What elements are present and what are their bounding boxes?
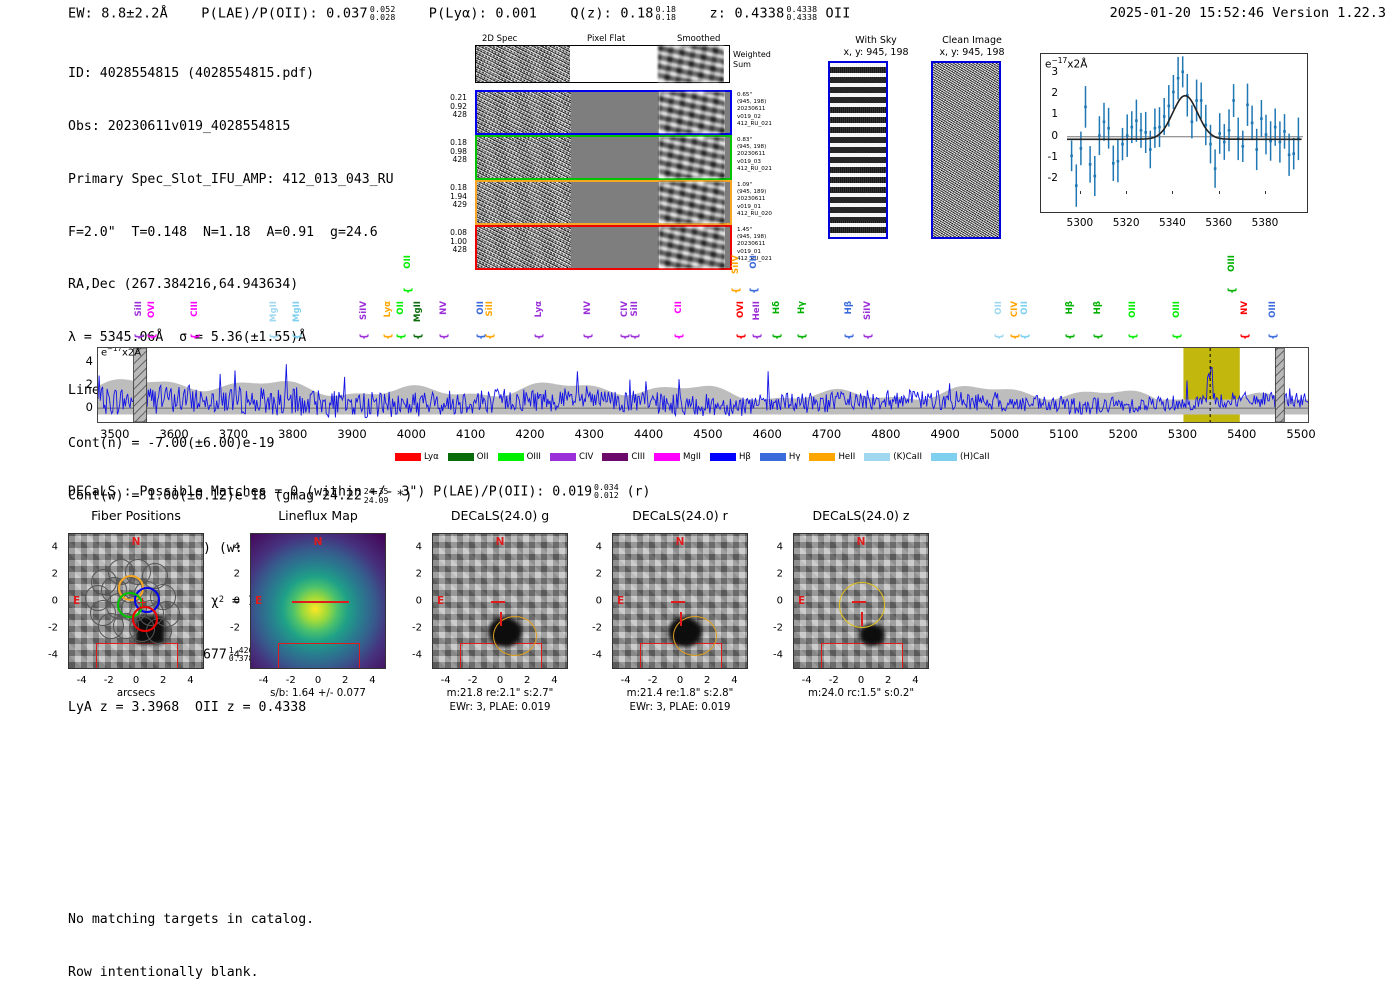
line-fit-plot: e−17x2Å 53005320534053605380-2-10123: [1040, 53, 1308, 213]
cutout-xtick: 0: [677, 675, 683, 686]
header-z: z: 0.4338: [709, 5, 784, 21]
spectrum-line-label: NV: [583, 301, 593, 315]
spectrum-line-label: OVI: [736, 301, 746, 318]
cutout-xtick: 4: [731, 675, 737, 686]
spectrum-xtick: 3800: [278, 427, 307, 441]
center-crosshair-h: [852, 601, 866, 602]
fov-box: [821, 643, 903, 669]
spectrum-line-label: SiII: [134, 301, 144, 317]
center-crosshair-h: [671, 601, 685, 602]
fiber-spacer: [725, 182, 730, 223]
weighted-smoothed-image: [658, 46, 724, 82]
legend-item: Lyα: [395, 452, 439, 462]
spectrum-line-bracket: {: [1268, 333, 1279, 340]
legend-label: HeII: [838, 452, 855, 462]
cutout-ytick: -2: [412, 623, 422, 634]
spectrum-line-bracket: {: [403, 287, 414, 294]
compass-east-label: E: [798, 595, 805, 607]
cutout-title: Fiber Positions: [91, 508, 181, 523]
spectrum-line-bracket: {: [439, 333, 450, 340]
spectrum-line-bracket: {: [1065, 333, 1076, 340]
cutout-ytick: 0: [416, 596, 422, 607]
center-crosshair-v: [500, 612, 501, 626]
fiber-pixelflat-image: [571, 227, 659, 268]
weighted-sum-label: Weighted Sum: [733, 50, 771, 70]
spectrum-line-label: MgII: [292, 301, 302, 322]
cutout-ytick: 2: [234, 568, 240, 579]
fiber-left-stats: 0.180.98428: [431, 139, 467, 165]
spectrum-line-bracket: {: [1020, 333, 1031, 340]
cutout-xtick: 4: [369, 675, 375, 686]
spectrum-line-bracket: {: [359, 333, 370, 340]
header-ew: EW: 8.8±2.2Å: [68, 5, 168, 21]
cutout-ytick: 0: [234, 596, 240, 607]
line-fit-ytick: -2: [1048, 172, 1058, 184]
spectrum-line-label: Hβ: [1093, 301, 1103, 314]
spectrum-line-label: Hβ: [1065, 301, 1075, 314]
info-radec: RA,Dec (267.384216,64.943634): [68, 276, 412, 294]
spectrum-xtick: 4200: [515, 427, 544, 441]
spectrum-line-bracket: {: [269, 333, 280, 340]
cutout-panel-decals-r: DECaLS(24.0) r N E -4-4-2-2002244m:21.4 …: [612, 508, 748, 708]
cutout-xtick: 2: [524, 675, 530, 686]
cutout-ytick: -4: [412, 650, 422, 661]
cutout-xtick: -2: [468, 675, 478, 686]
line-fit-xtick-mark: [1172, 191, 1173, 194]
spectrum-line-label: Hβ: [844, 301, 854, 314]
decals-header-errors: 0.0340.012: [594, 483, 619, 500]
spectrum-line-label: SiII: [485, 301, 495, 317]
spectrum-line-bracket: {: [1128, 333, 1139, 340]
cutout-ytick: -4: [773, 650, 783, 661]
center-crosshair-v: [680, 612, 681, 626]
spectrum-line-bracket: {: [190, 333, 201, 340]
header-z-suffix: OII: [826, 5, 851, 21]
decals-header: DECaLS : Possible Matches = 0 (within +/…: [68, 483, 650, 500]
cutout-ytick: 2: [777, 568, 783, 579]
spectrum-line-label: SiII: [630, 301, 640, 317]
info-id: ID: 4028554815 (4028554815.pdf): [68, 65, 412, 83]
spectrum-xtick: 4900: [931, 427, 960, 441]
legend-swatch: [809, 453, 835, 461]
cutout-ytick: 4: [234, 541, 240, 552]
cutout-caption-1: m:24.0 rc:1.5" s:0.2": [808, 688, 914, 699]
fiber-pixelflat-image: [571, 92, 659, 133]
legend-item: Hβ: [710, 452, 751, 462]
timestamp-version: 2025-01-20 15:52:46 Version 1.22.3: [1110, 5, 1386, 21]
legend-label: MgII: [683, 452, 701, 462]
spectrum-xtick: 4400: [634, 427, 663, 441]
with-sky-title: With Sky x, y: 945, 198: [828, 35, 924, 59]
spec2d-col-title-2dspec: 2D Spec: [482, 34, 517, 44]
line-fit-xtick-mark: [1080, 191, 1081, 194]
cutout-ytick: -4: [592, 650, 602, 661]
compass-north-label: N: [857, 536, 866, 548]
spectrum-line-label: NV: [1240, 301, 1250, 315]
with-sky-image: [828, 61, 888, 239]
line-fit-frame: e−17x2Å: [1040, 53, 1308, 213]
cutout-ytick: 4: [596, 541, 602, 552]
spectrum-xtick: 4700: [812, 427, 841, 441]
spectrum-line-bracket: {: [772, 333, 783, 340]
weighted-pixelflat-image: [570, 46, 658, 82]
cutout-panel-viridis: Lineflux Map N E -4-4-2-2002244s/b: 1.64…: [250, 508, 386, 708]
cutout-xtick: 2: [342, 675, 348, 686]
fiber-left-stats: 0.210.92428: [431, 94, 467, 120]
fiber-2dspec-image: [477, 137, 571, 178]
spectrum-xtick: 5400: [1227, 427, 1256, 441]
spectrum-line-label: Lyα: [534, 301, 544, 317]
line-fit-xtick-mark: [1265, 191, 1266, 194]
center-crosshair-v: [142, 598, 143, 606]
cutout-ytick: 0: [777, 596, 783, 607]
legend-swatch: [931, 453, 957, 461]
cutout-ytick: -4: [230, 650, 240, 661]
legend-label: Hγ: [789, 452, 801, 462]
spectrum-line-label: OII: [396, 301, 406, 315]
fiber-spacer: [725, 137, 730, 178]
cutout-caption-2: EWr: 3, PLAE: 0.019: [450, 702, 551, 713]
fiber-spacer: [725, 227, 730, 268]
line-fit-xtick-mark: [1126, 191, 1127, 194]
spectrum-line-label: CIV: [1010, 301, 1020, 317]
spectrum-line-label: OIII: [1227, 255, 1237, 272]
fiber-right-meta: 0.65"(945, 198)20230611v019_02412_RU_021: [737, 92, 772, 128]
header-plae-errors: 0.0520.028: [370, 5, 396, 22]
line-fit-xtick: 5340: [1159, 217, 1186, 229]
spectrum-line-bracket: {: [630, 333, 641, 340]
fiber-pixelflat-image: [571, 137, 659, 178]
spectrum-line-bracket: {: [396, 333, 407, 340]
decals-header-band: (r): [627, 484, 651, 499]
cutout-ytick: 2: [596, 568, 602, 579]
cutout-caption-1: m:21.4 re:1.8" s:2.8": [627, 688, 734, 699]
spec2d-col-title-pixelflat: Pixel Flat: [587, 34, 625, 44]
spectrum-line-bracket: {: [863, 333, 874, 340]
spectrum-line-bracket: {: [1227, 287, 1238, 294]
cutout-ytick: -2: [230, 623, 240, 634]
cutout-ytick: -2: [592, 623, 602, 634]
spectrum-legend: LyαOIIOIIICIVCIIIMgIIHβHγHeII(K)CaII(H)C…: [395, 452, 990, 462]
cutout-xtick: -4: [77, 675, 87, 686]
cutout-frame: N E: [432, 533, 568, 669]
weighted-2dspec-image: [476, 46, 570, 82]
center-crosshair-h: [491, 601, 505, 602]
legend-swatch: [602, 453, 628, 461]
spectrum-line-bracket: {: [994, 333, 1005, 340]
spectrum-line-bracket: {: [1093, 333, 1104, 340]
full-spectrum-frame: e−17x2Å: [97, 347, 1309, 423]
fiber-left-stats: 0.081.00428: [431, 229, 467, 255]
cutout-frame: N E: [68, 533, 204, 669]
cutout-ytick: -2: [48, 623, 58, 634]
legend-swatch: [864, 453, 890, 461]
compass-east-label: E: [437, 595, 444, 607]
legend-label: CIV: [579, 452, 593, 462]
cutout-ytick: 4: [52, 541, 58, 552]
line-fit-ytick: 1: [1051, 108, 1058, 120]
line-fit-xtick: 5380: [1252, 217, 1279, 229]
spectrum-xtick: 5100: [1049, 427, 1078, 441]
spectrum-ytick: 0: [86, 400, 93, 414]
spectrum-line-label: OIII: [1172, 301, 1182, 318]
compass-north-label: N: [314, 536, 323, 548]
cutout-ytick: 4: [416, 541, 422, 552]
cutout-caption-1: s/b: 1.64 +/- 0.077: [270, 688, 366, 699]
spectrum-line-bracket: {: [583, 333, 594, 340]
spectrum-xtick: 4100: [456, 427, 485, 441]
compass-north-label: N: [496, 536, 505, 548]
spectrum-line-label: CIV: [620, 301, 630, 317]
line-fit-ytick: -1: [1048, 151, 1058, 163]
spectrum-xtick: 5000: [990, 427, 1019, 441]
spectrum-line-label: SiIV: [863, 301, 873, 320]
cutout-ytick: 0: [596, 596, 602, 607]
spec2d-fiber-row: [475, 180, 732, 225]
cutout-xtick: -4: [441, 675, 451, 686]
spectrum-line-label: OIII: [1268, 301, 1278, 318]
spectrum-line-label: Hγ: [797, 301, 807, 314]
cutout-xtick: -2: [104, 675, 114, 686]
spectrum-ytick: 2: [86, 377, 93, 391]
spectrum-xtick: 4600: [753, 427, 782, 441]
spec2d-fiber-row: [475, 135, 732, 180]
cutout-xtick: 2: [704, 675, 710, 686]
spectrum-xtick: 4800: [871, 427, 900, 441]
cutout-ytick: 4: [777, 541, 783, 552]
fiber-2dspec-image: [477, 182, 571, 223]
center-crosshair-h: [292, 601, 349, 602]
cutout-xtick: -4: [802, 675, 812, 686]
cutout-axis-label: arcsecs: [117, 688, 155, 699]
full-spectrum-plot: e−17x2Å 35003600370038003900400041004200…: [97, 347, 1309, 423]
legend-swatch: [448, 453, 474, 461]
spectrum-xtick: 3600: [159, 427, 188, 441]
legend-item: Hγ: [760, 452, 801, 462]
spectrum-line-label: CIII: [190, 301, 200, 317]
fiber-left-stats: 0.181.94429: [431, 184, 467, 210]
legend-label: CIII: [631, 452, 645, 462]
header-qz: Q(z): 0.18: [570, 5, 653, 21]
legend-label: (K)CaII: [893, 452, 922, 462]
spectrum-line-label: MgII: [269, 301, 279, 322]
spectrum-xtick: 5200: [1108, 427, 1137, 441]
spectrum-line-bracket: {: [534, 333, 545, 340]
spectrum-line-label: MgII: [413, 301, 423, 322]
spec2d-col-title-smoothed: Smoothed: [677, 34, 720, 44]
cutout-xtick: -4: [621, 675, 631, 686]
spec2d-weighted-sum-row: [475, 45, 730, 83]
cutout-caption-1: m:21.8 re:2.1" s:2.7": [447, 688, 554, 699]
spectrum-xtick: 4300: [575, 427, 604, 441]
legend-item: HeII: [809, 452, 855, 462]
cutout-xtick: 0: [497, 675, 503, 686]
spectrum-line-label: OII: [1020, 301, 1030, 315]
header-plya: P(Lyα): 0.001: [429, 5, 537, 21]
fiber-smoothed-image: [659, 92, 725, 133]
spectrum-line-bracket: {: [1172, 333, 1183, 340]
legend-item: CIII: [602, 452, 645, 462]
legend-item: (K)CaII: [864, 452, 922, 462]
fiber-2dspec-image: [477, 92, 571, 133]
cutout-frame: N E: [793, 533, 929, 669]
footer-line-1: No matching targets in catalog.: [68, 911, 314, 929]
cutout-xtick: -2: [286, 675, 296, 686]
fiber-right-meta: 1.09"(945, 189)20230611v019_01412_RU_020: [737, 182, 772, 218]
line-fit-xtick-mark: [1219, 191, 1220, 194]
cutout-frame: N E: [612, 533, 748, 669]
spec2d-fiber-row: [475, 90, 732, 135]
spec2d-fiber-row: [475, 225, 732, 270]
cutout-xtick: -2: [648, 675, 658, 686]
spectrum-line-bracket: {: [413, 333, 424, 340]
spectrum-line-label: Lyα: [383, 301, 393, 317]
cutout-xtick: 4: [551, 675, 557, 686]
cutout-xtick: 2: [160, 675, 166, 686]
spectrum-xtick: 5300: [1168, 427, 1197, 441]
line-fit-xtick: 5300: [1067, 217, 1094, 229]
line-fit-ytick: 2: [1051, 87, 1058, 99]
compass-north-label: N: [676, 536, 685, 548]
cutout-xtick: 4: [912, 675, 918, 686]
spectrum-line-bracket: {: [383, 333, 394, 340]
spectrum-line-bracket: {: [1240, 333, 1251, 340]
spectrum-line-label: OII: [994, 301, 1004, 315]
fiber-spacer: [725, 92, 730, 133]
spectrum-line-label: CII: [674, 301, 684, 314]
cutout-panel-decals-z: DECaLS(24.0) z N E -4-4-2-2002244m:24.0 …: [793, 508, 929, 708]
clean-image-image: [931, 61, 1001, 239]
line-fit-ytick: 0: [1051, 130, 1058, 142]
legend-item: OII: [448, 452, 489, 462]
legend-swatch: [550, 453, 576, 461]
spectrum-line-bracket: {: [752, 333, 763, 340]
spectrum-xtick: 3900: [337, 427, 366, 441]
cutout-title: DECaLS(24.0) r: [632, 508, 728, 523]
legend-label: Hβ: [739, 452, 751, 462]
legend-swatch: [760, 453, 786, 461]
weighted-spacer: [724, 46, 729, 82]
full-spectrum-svg: [98, 348, 1308, 422]
spectrum-line-bracket: {: [134, 333, 145, 340]
spectrum-line-label: OII: [749, 255, 759, 269]
spectrum-line-bracket: {: [674, 333, 685, 340]
fiber-pixelflat-image: [571, 182, 659, 223]
legend-item: OIII: [498, 452, 541, 462]
footer-notes: No matching targets in catalog. Row inte…: [68, 876, 314, 999]
cutout-title: DECaLS(24.0) z: [813, 508, 910, 523]
cutout-xtick: 2: [885, 675, 891, 686]
spectrum-line-label: OII: [403, 255, 413, 269]
spectrum-line-bracket: {: [749, 287, 760, 294]
spectrum-line-bracket: {: [485, 333, 496, 340]
spectrum-line-bracket: {: [844, 333, 855, 340]
cutout-xtick: 0: [858, 675, 864, 686]
fiber-2dspec-image: [477, 227, 571, 268]
spectrum-xtick: 3500: [100, 427, 129, 441]
cutout-xtick: 0: [133, 675, 139, 686]
legend-swatch: [654, 453, 680, 461]
legend-label: OIII: [527, 452, 541, 462]
compass-north-label: N: [132, 536, 141, 548]
legend-item: CIV: [550, 452, 593, 462]
compass-east-label: E: [255, 595, 262, 607]
legend-swatch: [395, 453, 421, 461]
line-fit-xtick: 5360: [1205, 217, 1232, 229]
info-primary: Primary Spec_Slot_IFU_AMP: 412_013_043_R…: [68, 171, 412, 189]
decals-header-text: DECaLS : Possible Matches = 0 (within +/…: [68, 484, 592, 499]
spectrum-ytick: 4: [86, 354, 93, 368]
fiber-smoothed-image: [659, 227, 725, 268]
spectrum-line-bracket: {: [731, 287, 742, 294]
fov-box: [96, 643, 178, 669]
spectrum-line-bracket: {: [147, 333, 158, 340]
cutout-frame: N E: [250, 533, 386, 669]
spectrum-xtick: 4000: [397, 427, 426, 441]
fiber-smoothed-image: [659, 137, 725, 178]
legend-label: OII: [477, 452, 489, 462]
cutout-xtick: -4: [259, 675, 269, 686]
spectrum-line-label: SiIV: [731, 255, 741, 274]
cutout-ytick: 2: [52, 568, 58, 579]
cutout-title: Lineflux Map: [278, 508, 358, 523]
spectrum-line-label: SiIV: [359, 301, 369, 320]
line-fit-svg: [1041, 54, 1307, 212]
legend-swatch: [710, 453, 736, 461]
cutout-caption-2: EWr: 3, PLAE: 0.019: [630, 702, 731, 713]
spectrum-line-bracket: {: [797, 333, 808, 340]
cutout-panel-decals-g: DECaLS(24.0) g N E -4-4-2-2002244m:21.8 …: [432, 508, 568, 708]
compass-east-label: E: [617, 595, 624, 607]
line-fit-ytick: 3: [1051, 66, 1058, 78]
spectrum-xtick: 3700: [219, 427, 248, 441]
spectrum-xtick: 4500: [693, 427, 722, 441]
line-fit-xtick: 5320: [1113, 217, 1140, 229]
spec2d-panel: 2D Spec Pixel Flat Smoothed Weighted Sum…: [437, 34, 787, 256]
cutout-xtick: -2: [829, 675, 839, 686]
spectrum-line-label: HeII: [752, 301, 762, 320]
cutout-ytick: -4: [48, 650, 58, 661]
spectrum-line-bracket: {: [292, 333, 303, 340]
legend-item: MgII: [654, 452, 701, 462]
cutout-xtick: 0: [315, 675, 321, 686]
fiber-right-meta: 0.83"(945, 198)20230611v019_03412_RU_021: [737, 137, 772, 173]
clean-image-title: Clean Image x, y: 945, 198: [920, 35, 1024, 59]
header-summary: EW: 8.8±2.2Å P(LAE)/P(OII): 0.0370.0520.…: [68, 5, 851, 22]
cutout-ytick: 0: [52, 596, 58, 607]
spectrum-line-label: NV: [439, 301, 449, 315]
spectrum-line-label: Hδ: [772, 301, 782, 314]
center-crosshair-v: [861, 612, 862, 626]
legend-item: (H)CaII: [931, 452, 990, 462]
info-params: F=2.0" T=0.148 N=1.18 A=0.91 g=24.6: [68, 224, 412, 242]
full-spectrum-units-annotation: e−17x2Å: [101, 347, 141, 358]
spectrum-xtick: 5500: [1286, 427, 1315, 441]
header-plae: P(LAE)/P(OII): 0.037: [201, 5, 368, 21]
info-obs: Obs: 20230611v019_4028554815: [68, 118, 412, 136]
cutout-panel-fibers: Fiber Positions N E -4-4-2-2002244arcsec…: [68, 508, 204, 708]
compass-east-label: E: [73, 595, 80, 607]
spectrum-line-label: OIII: [1128, 301, 1138, 318]
legend-swatch: [498, 453, 524, 461]
cutout-ytick: -2: [773, 623, 783, 634]
fov-box: [278, 643, 360, 669]
footer-line-2: Row intentionally blank.: [68, 964, 314, 982]
header-qz-errors: 0.180.18: [656, 5, 677, 22]
fiber-smoothed-image: [659, 182, 725, 223]
cutout-xtick: 4: [187, 675, 193, 686]
spectrum-line-label: OVI: [147, 301, 157, 318]
